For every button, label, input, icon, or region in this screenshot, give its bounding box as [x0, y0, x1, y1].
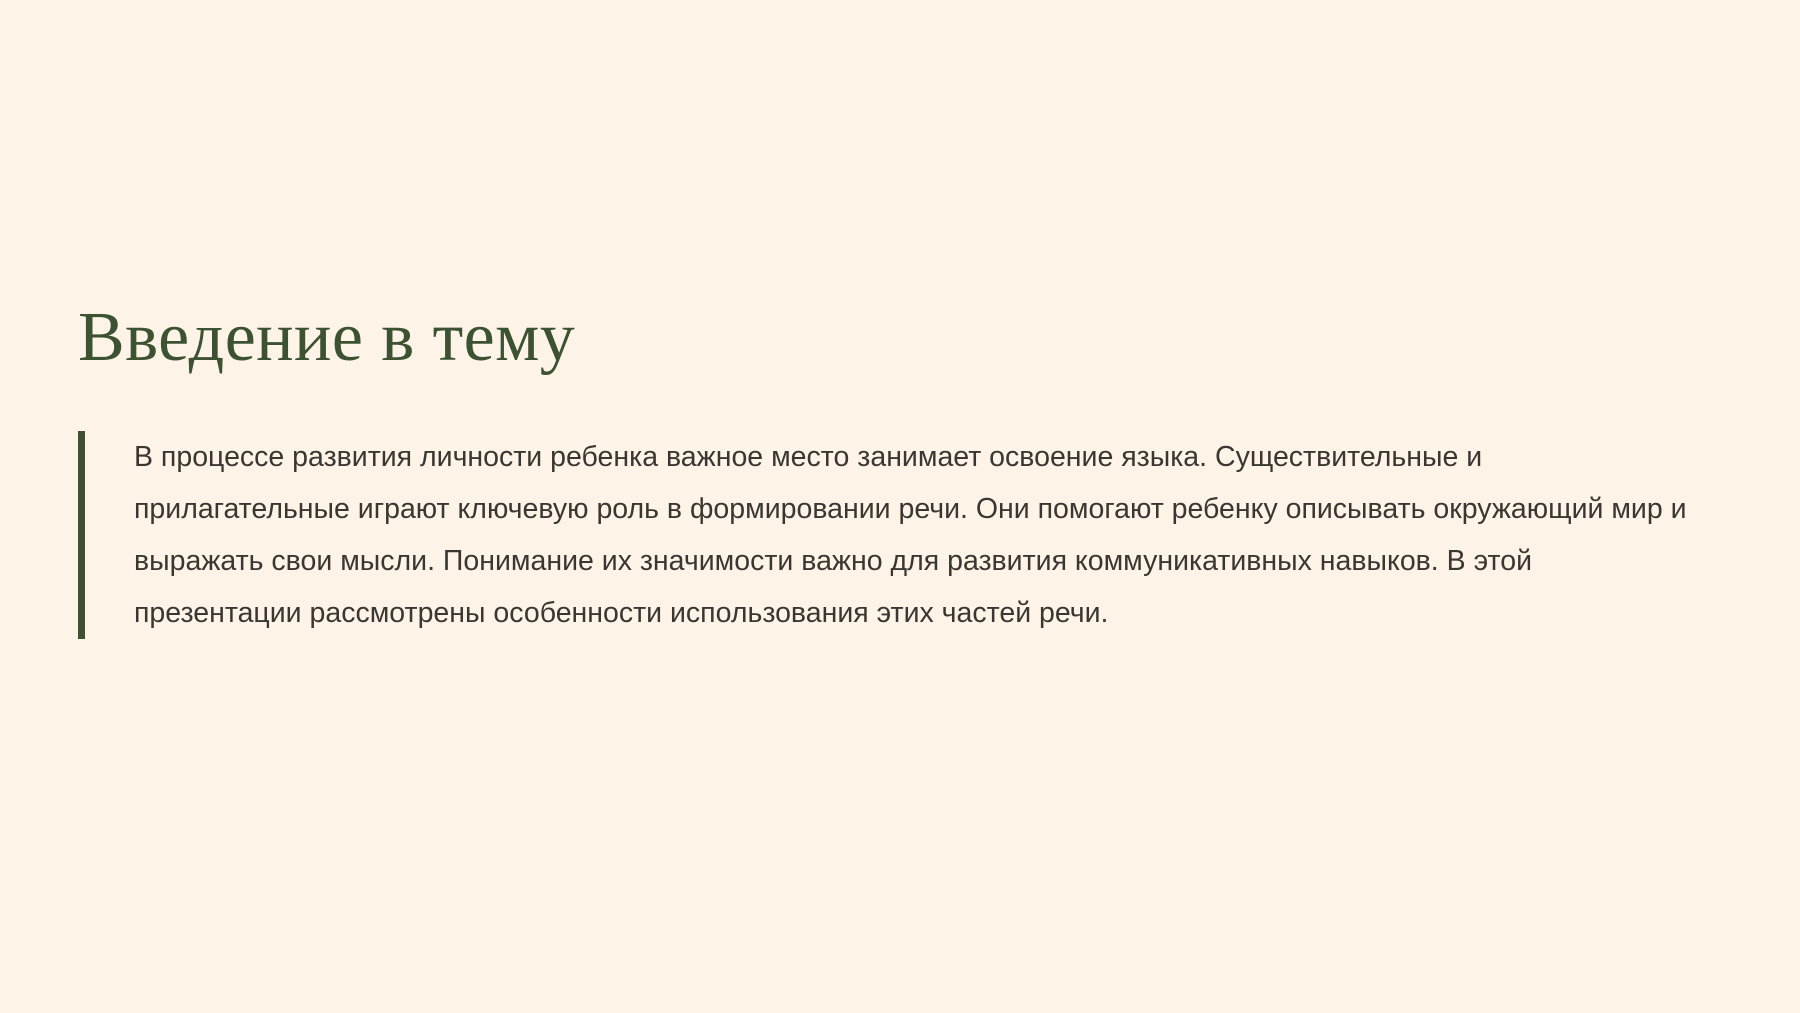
accent-bar [78, 431, 85, 639]
body-paragraph: В процессе развития личности ребенка важ… [134, 431, 1704, 639]
slide-content-area: Введение в тему В процессе развития личн… [78, 300, 1718, 639]
page-title: Введение в тему [78, 300, 1718, 376]
presentation-slide: Введение в тему В процессе развития личн… [0, 0, 1800, 1013]
body-quote-block: В процессе развития личности ребенка важ… [78, 431, 1718, 639]
